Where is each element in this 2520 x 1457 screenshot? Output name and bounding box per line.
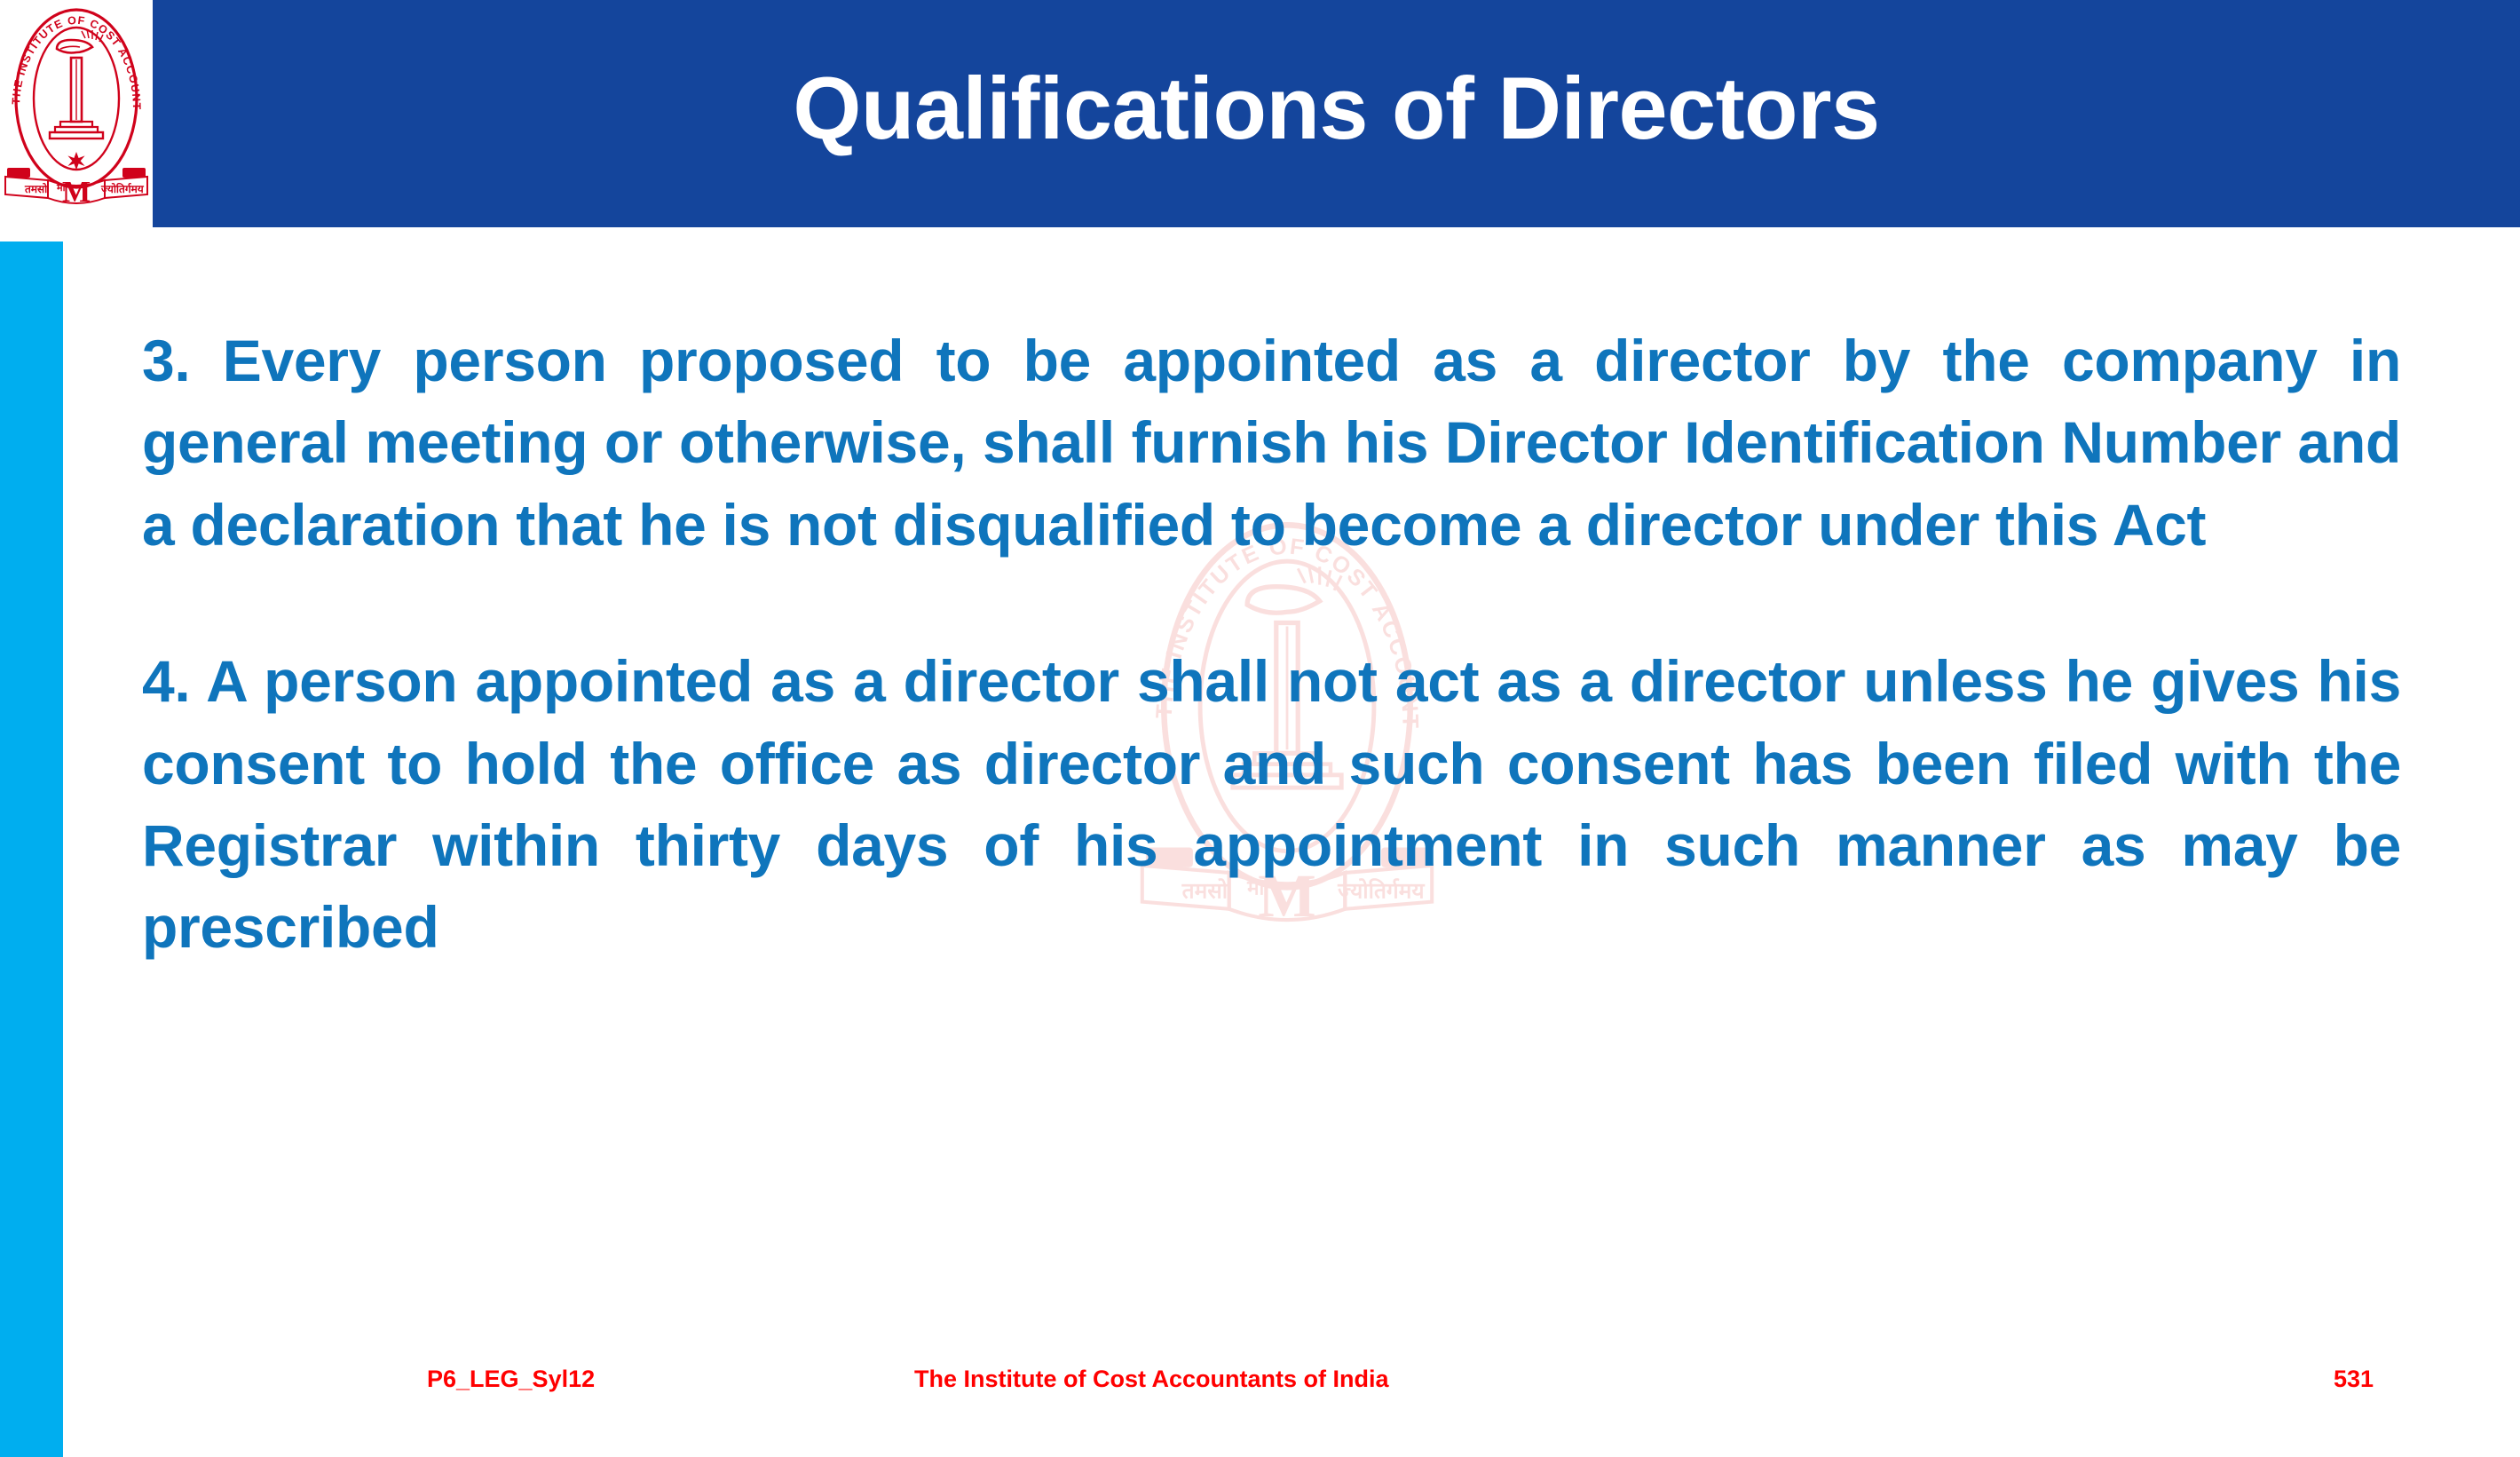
svg-text:ज्योतिर्गमय: ज्योतिर्गमय — [100, 183, 145, 195]
institute-logo-icon: THE INSTITUTE OF COST ACCOUNTANTS OF IND… — [2, 3, 151, 225]
slide: Qualifications of Directors THE INSTITUT… — [0, 0, 2520, 1457]
svg-text:तमसो: तमसो — [24, 183, 48, 195]
svg-text:M: M — [62, 176, 91, 209]
body-paragraph-3: 3. Every person proposed to be appointed… — [142, 320, 2401, 566]
footer: P6_LEG_Syl12 The Institute of Cost Accou… — [0, 1360, 2520, 1413]
body-paragraph-4: 4. A person appointed as a director shal… — [142, 640, 2401, 969]
left-accent-bar — [0, 242, 63, 1457]
institute-logo: THE INSTITUTE OF COST ACCOUNTANTS OF IND… — [0, 0, 153, 227]
footer-page-number: 531 — [2334, 1366, 2374, 1393]
page-title: Qualifications of Directors — [153, 0, 2520, 227]
svg-text:THE INSTITUTE OF COST ACCOUNTA: THE INSTITUTE OF COST ACCOUNTANTS OF IND… — [2, 3, 143, 110]
footer-institute-name: The Institute of Cost Accountants of Ind… — [914, 1366, 1389, 1393]
footer-subject-code: P6_LEG_Syl12 — [427, 1366, 595, 1393]
slide-body: 3. Every person proposed to be appointed… — [142, 320, 2401, 1296]
